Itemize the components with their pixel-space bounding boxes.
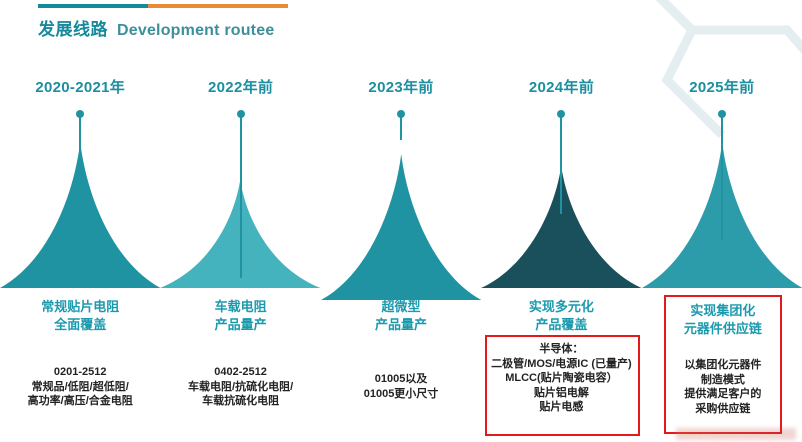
- milestone-body-5: 以集团化元器件 制造模式 提供满足客户的 采购供应链: [662, 358, 784, 416]
- milestone-body-1-line3: 高功率/高压/合金电阻: [2, 394, 158, 409]
- milestone-year-4: 2024年前: [481, 76, 641, 97]
- milestone-body-4-line3: MLCC(贴片陶瓷电容）: [483, 371, 639, 386]
- milestone-body-5-line3: 提供满足客户的: [662, 387, 784, 402]
- milestone-body-4-line2: 二极管/MOS/电源IC (已量产): [483, 357, 639, 372]
- milestone-heading-3-line1: 超微型: [382, 299, 421, 314]
- milestone-heading-4-line2: 产品覆盖: [485, 316, 637, 334]
- milestone-dot-1: [76, 110, 84, 118]
- milestone-heading-5-line1: 实现集团化: [690, 303, 755, 318]
- milestone-heading-4: 实现多元化 产品覆盖: [485, 298, 637, 333]
- page-title: 发展线路 Development routee: [38, 15, 288, 40]
- milestone-heading-2: 车载电阻 产品量产: [164, 298, 316, 333]
- milestone-year-3: 2023年前: [321, 76, 481, 97]
- milestone-body-2-line2: 车载电阻/抗硫化电阻/: [162, 380, 318, 395]
- milestone-year-1: 2020-2021年: [0, 76, 160, 97]
- milestone-dot-5: [718, 110, 726, 118]
- roadmap-column-2: 2022年前 车载电阻 产品量产 0402-2512 车载电阻/抗硫化电阻/ 车…: [160, 0, 320, 442]
- milestone-peak-3: [321, 154, 481, 300]
- milestone-dot-4: [557, 110, 565, 118]
- milestone-dot-3: [397, 110, 405, 118]
- milestone-body-5-line2: 制造模式: [662, 373, 784, 388]
- milestone-dot-2: [237, 110, 245, 118]
- milestone-body-1-line1: 0201-2512: [2, 365, 158, 380]
- milestone-body-4-line1: 半导体：: [483, 342, 639, 357]
- milestone-body-2: 0402-2512 车载电阻/抗硫化电阻/ 车载抗硫化电阻: [162, 365, 318, 409]
- milestone-body-2-line1: 0402-2512: [162, 365, 318, 380]
- milestone-heading-1-line2: 全面覆盖: [4, 316, 156, 334]
- accent-bar-right: [148, 4, 288, 8]
- milestone-heading-2-line1: 车载电阻: [215, 299, 267, 314]
- milestone-heading-3: 超微型 产品量产: [325, 298, 477, 333]
- milestone-heading-1: 常规贴片电阻 全面覆盖: [4, 298, 156, 333]
- milestone-stem-5: [721, 114, 723, 240]
- milestone-body-3-line2: 01005更小尺寸: [323, 387, 479, 402]
- roadmap-columns: 2020-2021年 常规贴片电阻 全面覆盖 0201-2512 常规品/低阻/…: [0, 0, 802, 442]
- milestone-body-2-line3: 车载抗硫化电阻: [162, 394, 318, 409]
- milestone-heading-5-line2: 元器件供应链: [662, 320, 784, 338]
- milestone-body-5-line4: 采购供应链: [662, 402, 784, 417]
- milestone-stem-1: [79, 114, 81, 240]
- milestone-heading-3-line2: 产品量产: [325, 316, 477, 334]
- milestone-body-4-line5: 贴片电感: [483, 400, 639, 415]
- milestone-body-4: 半导体： 二极管/MOS/电源IC (已量产) MLCC(贴片陶瓷电容） 贴片铝…: [483, 342, 639, 415]
- milestone-year-5: 2025年前: [642, 76, 802, 97]
- roadmap-column-3: 2023年前 超微型 产品量产 01005以及 01005更小尺寸: [321, 0, 481, 442]
- roadmap-column-1: 2020-2021年 常规贴片电阻 全面覆盖 0201-2512 常规品/低阻/…: [0, 0, 160, 442]
- milestone-heading-2-line2: 产品量产: [164, 316, 316, 334]
- roadmap-column-5: 2025年前 实现集团化 元器件供应链 以集团化元器件 制造模式 提供满足客户的…: [642, 0, 802, 442]
- milestone-body-1: 0201-2512 常规品/低阻/超低阻/ 高功率/高压/合金电阻: [2, 365, 158, 409]
- accent-bar-left: [38, 4, 148, 8]
- milestone-body-3-line1: 01005以及: [323, 372, 479, 387]
- milestone-heading-4-line1: 实现多元化: [529, 299, 594, 314]
- milestone-stem-2: [240, 114, 242, 278]
- milestone-body-1-line2: 常规品/低阻/超低阻/: [2, 380, 158, 395]
- milestone-body-4-line4: 贴片铝电解: [483, 386, 639, 401]
- milestone-body-3: 01005以及 01005更小尺寸: [323, 372, 479, 401]
- milestone-body-5-line1: 以集团化元器件: [662, 358, 784, 373]
- development-roadmap-slide: 发展线路 Development routee 2020-2021年 常规贴片电…: [0, 0, 802, 442]
- page-title-en: Development routee: [117, 22, 274, 40]
- page-title-cn: 发展线路: [38, 15, 108, 40]
- roadmap-column-4: 2024年前 实现多元化 产品覆盖 半导体： 二极管/MOS/电源IC (已量产…: [481, 0, 641, 442]
- milestone-year-2: 2022年前: [160, 76, 320, 97]
- milestone-heading-1-line1: 常规贴片电阻: [41, 299, 119, 314]
- accent-bar: [38, 4, 288, 8]
- milestone-heading-5: 实现集团化 元器件供应链: [662, 302, 784, 337]
- slide-header: 发展线路 Development routee: [38, 4, 288, 40]
- milestone-stem-4: [560, 114, 562, 214]
